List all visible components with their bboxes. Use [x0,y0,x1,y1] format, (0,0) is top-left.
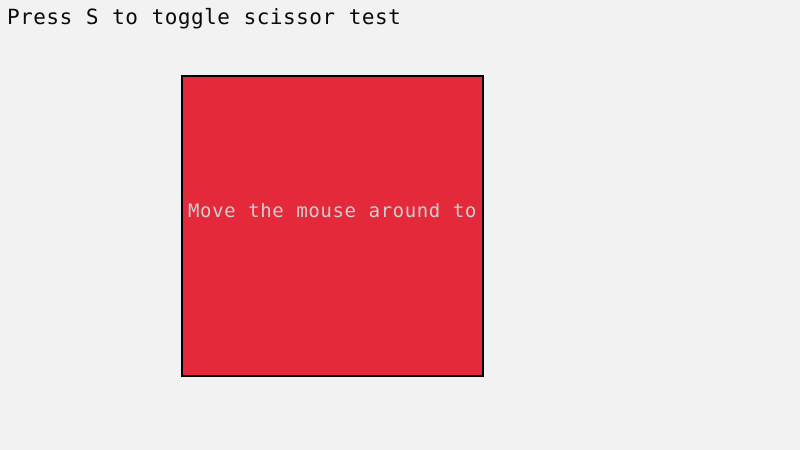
demo-canvas: Press S to toggle scissor test Move the … [0,0,800,450]
scissor-toggle-hint: Press S to toggle scissor test [7,4,401,30]
scissor-test-rectangle[interactable]: Move the mouse around to reveal the scis… [181,75,484,377]
scissor-clipped-message: Move the mouse around to reveal the scis… [188,199,484,223]
